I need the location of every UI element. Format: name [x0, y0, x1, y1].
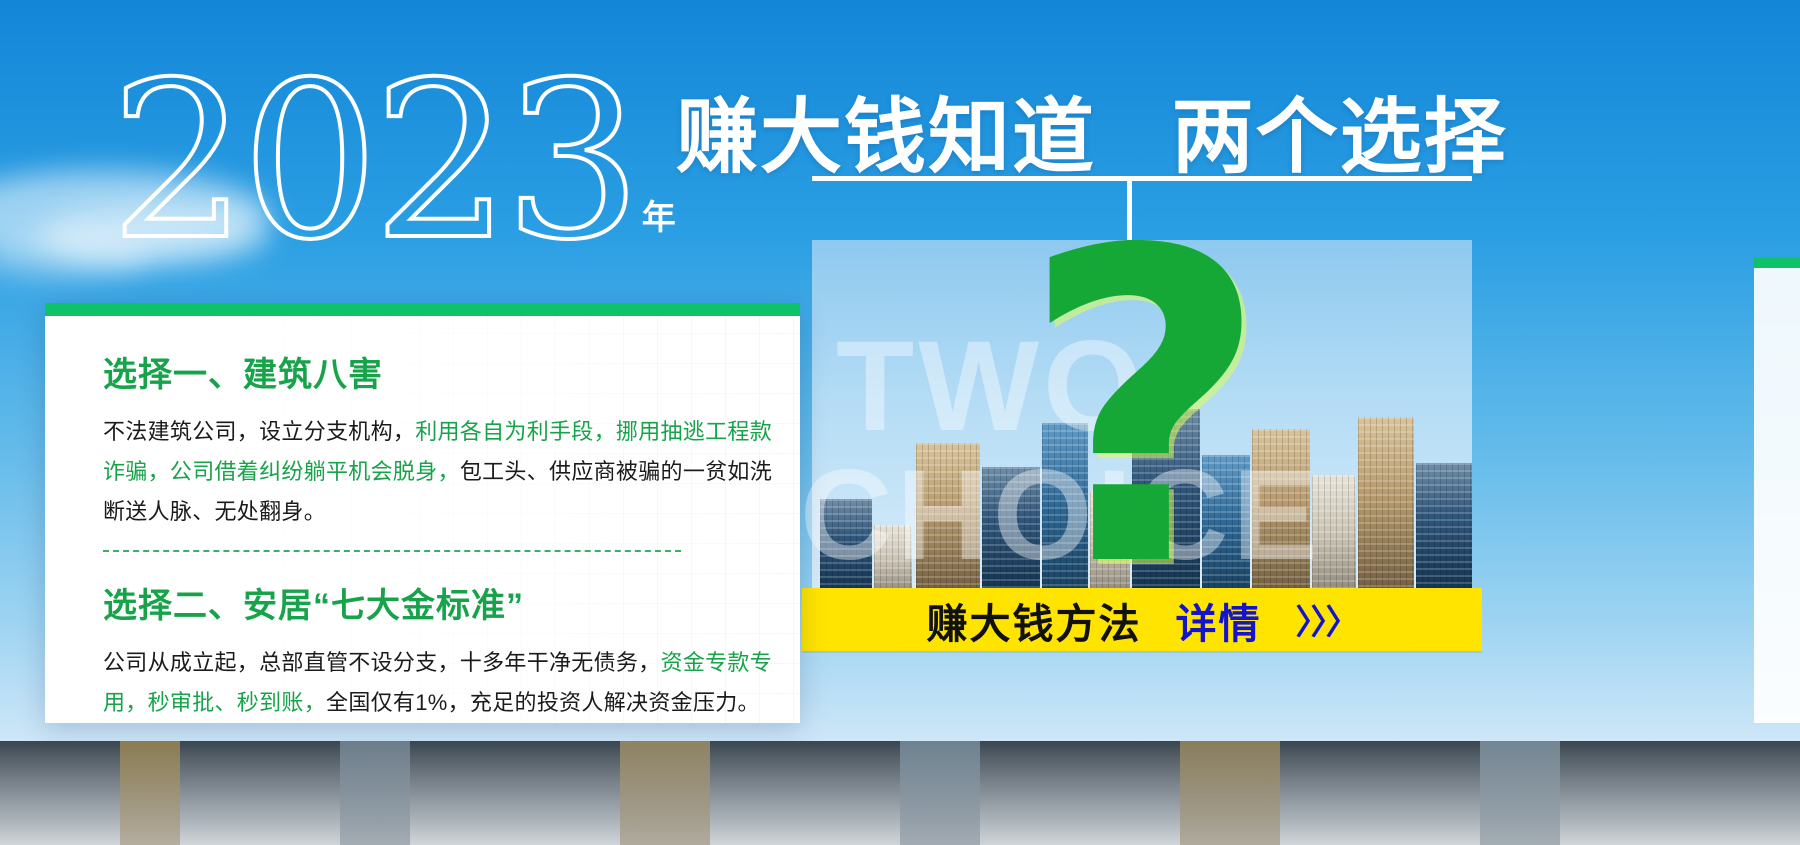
section-2-text-a: 公司从成立起，总部直管不设分支，十多年干净无债务，	[103, 650, 661, 675]
year-graphic: 2023 年	[110, 58, 677, 265]
edge-white-panel	[1754, 268, 1800, 723]
content-card: 选择一、建筑八害 不法建筑公司，设立分支机构，利用各自为利手段，挪用抽逃工程款诈…	[45, 303, 800, 723]
year-number: 2023	[110, 58, 636, 265]
section-2-title: 选择二、安居“七大金标准”	[103, 578, 800, 627]
section-divider	[103, 550, 681, 552]
section-1-body: 不法建筑公司，设立分支机构，利用各自为利手段，挪用抽逃工程款诈骗，公司借着纠纷躺…	[103, 412, 775, 532]
reflection-strip	[0, 741, 1800, 845]
section-1-title: 选择一、建筑八害	[103, 347, 800, 396]
section-2-body: 公司从成立起，总部直管不设分支，十多年干净无债务，资金专款专用，秒审批、秒到账，…	[103, 643, 775, 723]
section-2-text-b: 全国仅有1%，充足的投资人解决资金压力。	[326, 690, 760, 715]
cta-bar[interactable]: 赚大钱方法 详情 〉〉〉	[802, 588, 1482, 651]
question-mark-icon: ?	[1020, 196, 1269, 626]
promo-banner: 2023 年 赚大钱知道 两个选择 TWO CHOICE ? 赚大钱方	[0, 0, 1800, 845]
chevron-right-icon: 〉〉〉	[1296, 595, 1358, 644]
year-suffix-label: 年	[642, 190, 677, 239]
card-top-accent-bar	[45, 303, 800, 316]
cta-detail-link[interactable]: 详情	[1176, 590, 1262, 650]
edge-green-accent	[1754, 258, 1800, 268]
cta-main-label: 赚大钱方法	[927, 590, 1142, 650]
section-1-text-a: 不法建筑公司，设立分支机构，	[103, 419, 415, 444]
